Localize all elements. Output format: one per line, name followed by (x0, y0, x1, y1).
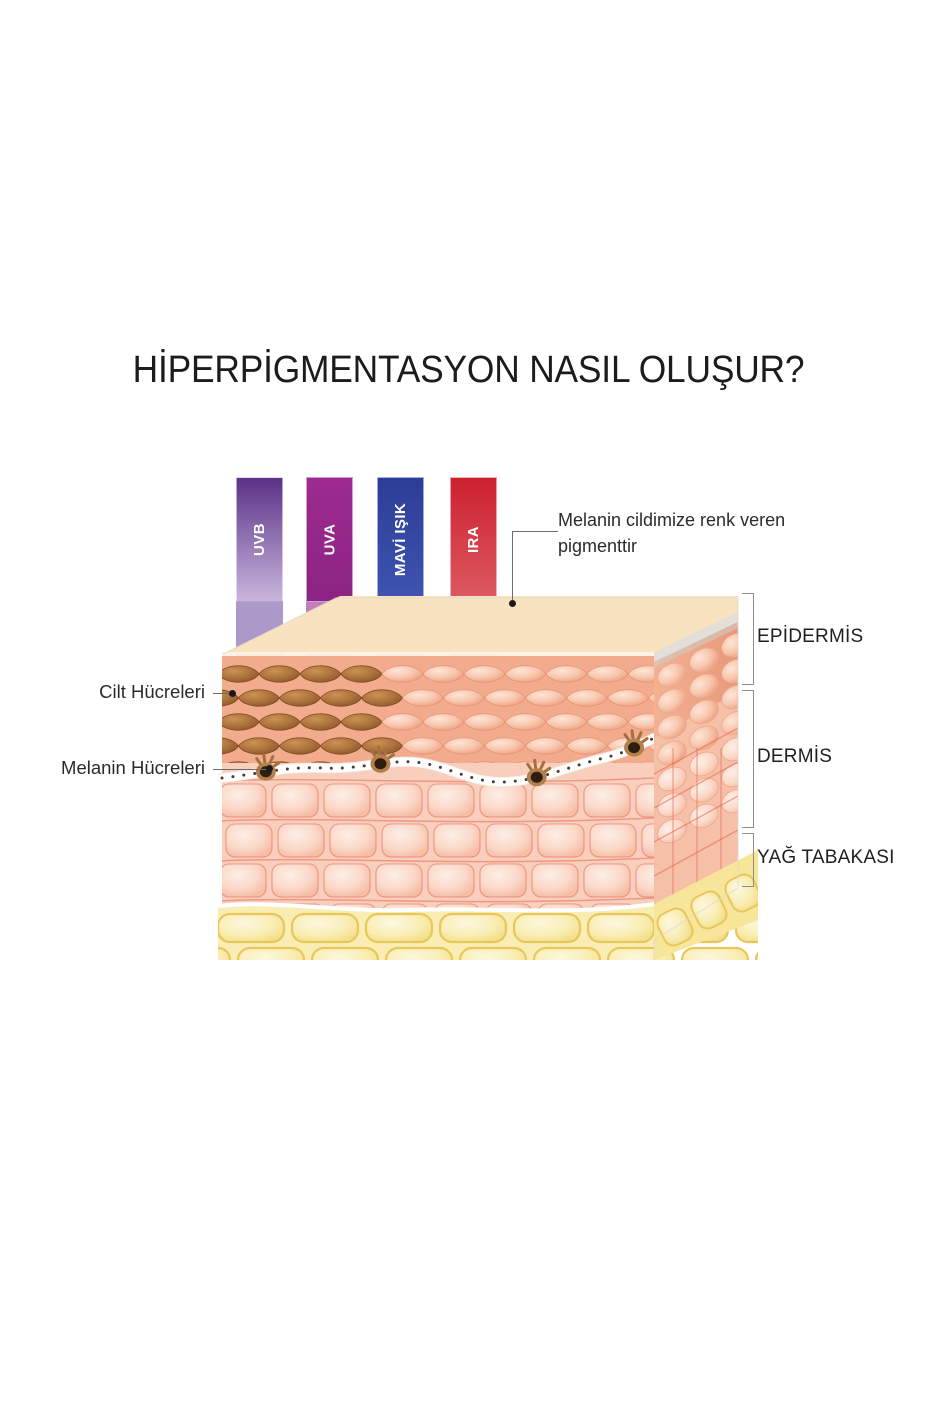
bracket-layer-label-epidermis (742, 593, 754, 685)
beam-ira-bar: IRA (450, 477, 497, 602)
dermis-cell (376, 784, 422, 817)
diagram-canvas: HİPERPİGMENTASYON NASIL OLUŞUR? UVBUVAMA… (0, 0, 937, 1405)
basement-membrane-dot (297, 767, 300, 770)
epidermis-cell (280, 738, 321, 755)
epidermis-cell (239, 738, 280, 755)
epidermis-cell (341, 666, 382, 683)
basement-membrane-dot (481, 779, 484, 782)
dermis-cell (272, 784, 318, 817)
basement-membrane-dot (620, 751, 623, 754)
dermis-cell (532, 784, 578, 817)
epidermis-cell (300, 714, 341, 731)
epidermis-cell (239, 690, 280, 707)
epidermis-cell (218, 666, 259, 683)
dermis-cell (220, 784, 266, 817)
basement-membrane-dot (363, 764, 366, 767)
dermis-cell (330, 824, 376, 857)
epidermis-cell (423, 666, 464, 683)
fat-cell (588, 914, 654, 942)
basement-membrane-dot (221, 777, 224, 780)
basement-membrane-dot (242, 774, 245, 777)
basement-membrane-dot (449, 769, 452, 772)
epidermis-cell (546, 666, 587, 683)
basement-membrane-dot (588, 760, 591, 763)
fat-cell (366, 914, 432, 942)
epidermis-cell (259, 714, 300, 731)
epidermis-cell (608, 690, 649, 707)
epidermis-cell (341, 714, 382, 731)
fat-cell (218, 914, 284, 942)
epidermis-cell (526, 738, 567, 755)
epidermis-cell (526, 690, 567, 707)
basement-membrane-dot (557, 770, 560, 773)
basement-membrane-dot (460, 773, 463, 776)
epidermis-cell (567, 738, 608, 755)
annotation-melanin-note: Melanin cildimize renk veren pigmenttir (558, 507, 848, 559)
epidermis-cell (403, 738, 444, 755)
dermis-cell (218, 824, 220, 857)
fat-cell (238, 948, 304, 960)
skin-cross-section-illustration (218, 588, 758, 960)
basement-membrane-dot (253, 772, 256, 775)
dermis-cell (538, 824, 584, 857)
basement-membrane-dot (439, 766, 442, 769)
basement-membrane-dot (578, 763, 581, 766)
leader-dot-skin-cells (229, 690, 236, 697)
epidermis-cell (218, 714, 259, 731)
epidermis-cell (403, 690, 444, 707)
page-title: HİPERPİGMENTASYON NASIL OLUŞUR? (33, 349, 904, 392)
layer-label-epidermis: EPİDERMİS (757, 626, 863, 648)
beam-ira-label: IRA (465, 526, 482, 553)
dermis-cell (584, 784, 630, 817)
leader-dot-melanin-cells (266, 765, 273, 772)
dermis-cell (532, 864, 578, 897)
epidermis-cell (321, 690, 362, 707)
fat-cell (292, 914, 358, 942)
epidermis-cell (485, 690, 526, 707)
dermis-cell (590, 824, 636, 857)
dermis-cell (278, 824, 324, 857)
basement-membrane-dot (609, 755, 612, 758)
basement-membrane-dot (286, 767, 289, 770)
epidermis-cell (280, 690, 321, 707)
dermis-cell (480, 864, 526, 897)
fat-cell (312, 948, 378, 960)
annotation-melanin-cells: Melanin Hücreleri (0, 757, 205, 779)
basement-membrane-dot (650, 738, 653, 741)
epidermis-cell (587, 714, 628, 731)
leader-line-melanin-cells (213, 769, 271, 770)
basement-membrane-dot (492, 780, 495, 783)
basement-membrane-dot (330, 767, 333, 770)
epidermis-cell (300, 666, 341, 683)
fat-cell (514, 914, 580, 942)
beam-uvb-label: UVB (251, 523, 268, 556)
beam-uva-label: UVA (321, 524, 338, 556)
leader-dot-melanin-note (509, 600, 516, 607)
epidermis-cell (382, 666, 423, 683)
basement-membrane-dot (395, 761, 398, 764)
epidermis-cell (423, 714, 464, 731)
dermis-cell (434, 824, 480, 857)
fat-cell (682, 948, 748, 960)
basement-membrane-dot (567, 767, 570, 770)
annotation-skin-cells: Cilt Hücreleri (0, 681, 205, 703)
epidermis-cell (485, 738, 526, 755)
dermis-cell (428, 784, 474, 817)
layer-label-yag-tabakasi: YAĞ TABAKASI (757, 847, 895, 869)
epidermis-cell (505, 666, 546, 683)
dermis-cell (226, 824, 272, 857)
dermis-cell (486, 824, 532, 857)
fat-cell (460, 948, 526, 960)
basement-membrane-dot (503, 780, 506, 783)
epidermis-cell (546, 714, 587, 731)
layer-label-dermis: DERMİS (757, 746, 832, 768)
beam-uvb-bar: UVB (236, 477, 283, 602)
fat-cell (386, 948, 452, 960)
epidermis-cell (587, 666, 628, 683)
dermis-cell (382, 824, 428, 857)
basement-membrane-dot (231, 775, 234, 778)
epidermis-cell (567, 690, 608, 707)
basement-membrane-dot (599, 757, 602, 760)
epidermis-cell (382, 714, 423, 731)
epidermis-cell (321, 738, 362, 755)
epidermis-cell (464, 666, 505, 683)
basement-membrane-dot (428, 763, 431, 766)
bracket-layer-label-yag-tabakasi (742, 833, 754, 887)
beam-uva-bar: UVA (306, 477, 353, 602)
fat-cell (534, 948, 600, 960)
beam-mavi-isik-bar: MAVİ IŞIK (377, 477, 424, 602)
beam-mavi-isik-label: MAVİ IŞIK (392, 503, 409, 576)
basement-membrane-dot (319, 766, 322, 769)
dermis-cell (480, 784, 526, 817)
fat-cell (440, 914, 506, 942)
epidermis-cell (444, 738, 485, 755)
basement-membrane-dot (470, 776, 473, 779)
epidermis-cell (362, 690, 403, 707)
fat-cell (756, 948, 758, 960)
epidermis-cell (505, 714, 546, 731)
basement-membrane-dot (352, 766, 355, 769)
epidermis-cell (362, 738, 403, 755)
leader-line-melanin-note-v (512, 531, 513, 604)
basement-membrane-dot (514, 780, 517, 783)
bracket-layer-label-dermis (742, 690, 754, 828)
epidermis-cell (464, 714, 505, 731)
dermis-cell (324, 784, 370, 817)
epidermis-cell (259, 666, 300, 683)
epidermis-cell (444, 690, 485, 707)
basement-membrane-dot (417, 761, 420, 764)
leader-line-melanin-note-h (513, 531, 558, 532)
basement-membrane-dot (308, 766, 311, 769)
basement-membrane-dot (406, 760, 409, 763)
basement-membrane-dot (341, 766, 344, 769)
